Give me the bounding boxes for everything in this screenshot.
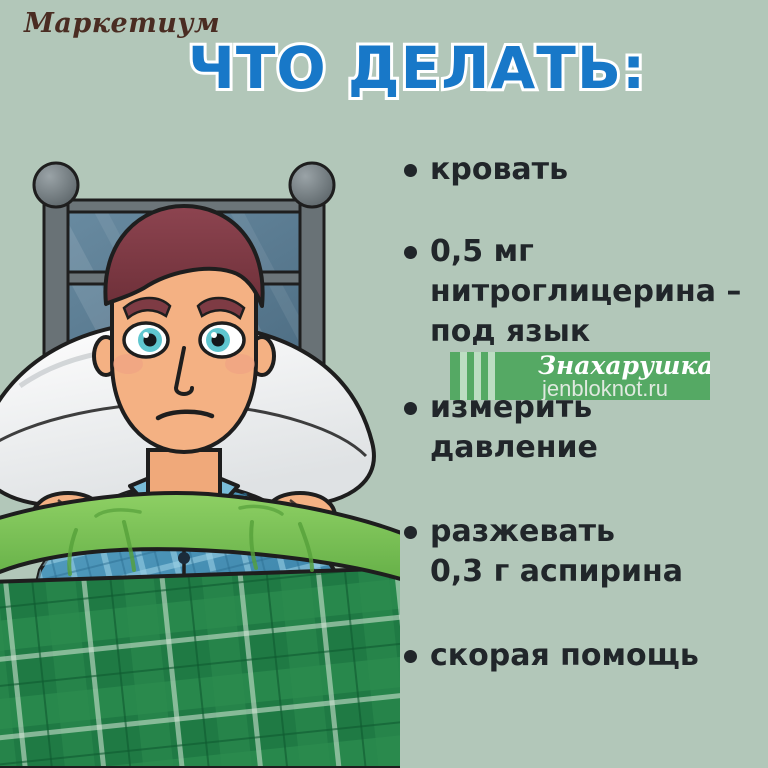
bullet-dot-icon (404, 402, 417, 415)
list-item-label: разжевать 0,3 г аспирина (430, 512, 764, 592)
illustration-man-in-bed (0, 150, 400, 768)
list-item: кровать (404, 150, 764, 190)
bullet-dot-icon (404, 246, 417, 259)
list-item-label: 0,5 мг нитроглицерина – под язык (430, 232, 764, 352)
blanket (0, 493, 400, 768)
list-item-label: скорая помощь (430, 636, 764, 676)
list-item: 0,5 мг нитроглицерина – под язык (404, 232, 764, 352)
list-item: скорая помощь (404, 636, 764, 676)
bullet-dot-icon (404, 526, 417, 539)
list-item-label: измерить давление (430, 388, 764, 468)
list-item: разжевать 0,3 г аспирина (404, 512, 764, 592)
list-item-label: кровать (430, 150, 764, 190)
infographic-poster: Маркетиум ЧТО ДЕЛАТЬ: (0, 0, 768, 768)
list-item: измерить давление (404, 388, 764, 468)
bullet-dot-icon (404, 650, 417, 663)
instruction-list: кровать 0,5 мг нитроглицерина – под язык… (404, 150, 764, 676)
page-title: ЧТО ДЕЛАТЬ: (188, 34, 646, 102)
bullet-dot-icon (404, 164, 417, 177)
